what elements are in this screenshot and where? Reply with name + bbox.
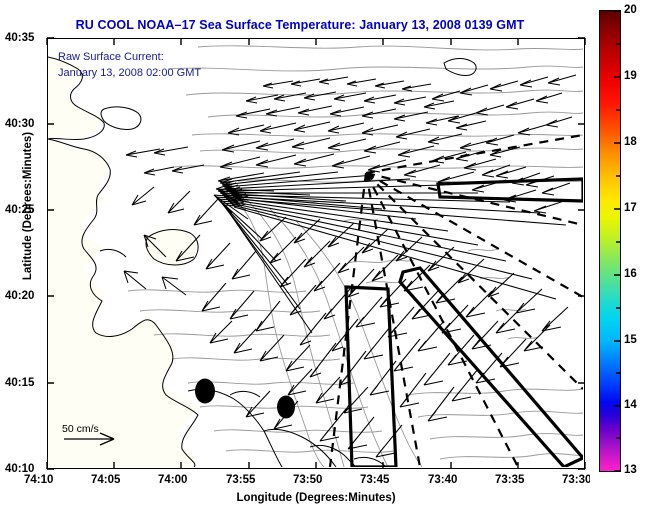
xtick-label: 73:35 [495,474,524,486]
scale-bar-label: 50 cm/s [62,423,99,435]
ytick-label: 40:35 [5,32,34,44]
xtick-label: 74:05 [91,474,120,486]
colorbar-tick-label: 14 [624,399,637,411]
x-axis-label: Longitude (Degrees:Minutes) [47,492,585,504]
map-plot-area[interactable]: Raw Surface Current: January 13, 2008 02… [47,38,585,469]
annotation-line-2: January 13, 2008 02:00 GMT [58,67,201,79]
colorbar-tick-label: 17 [624,202,637,214]
xtick-label: 73:50 [293,474,322,486]
ytick-label: 40:15 [5,377,34,389]
colorbar[interactable] [599,10,621,472]
annotation-line-1: Raw Surface Current: [58,51,164,63]
colorbar-tick-label: 20 [624,4,637,16]
y-axis-label: Latitude (Degrees:Minutes) [22,116,34,296]
colorbar-tick-label: 16 [624,268,637,280]
colorbar-tick-label: 13 [624,464,637,476]
sst-surface-current-figure: RU COOL NOAA–17 Sea Surface Temperature:… [0,0,651,518]
colorbar-tick-label: 19 [624,70,637,82]
xtick-label: 73:45 [360,474,389,486]
colorbar-tick-label: 15 [624,334,637,346]
ytick-label: 40:10 [5,463,34,475]
xtick-label: 73:30 [562,474,590,486]
xtick-label: 73:40 [428,474,457,486]
xtick-label: 74:00 [158,474,187,486]
xtick-label: 73:55 [226,474,255,486]
xtick-label: 74:10 [24,474,53,486]
map-canvas [48,39,583,467]
colorbar-tick-label: 18 [624,136,637,148]
radar-site-marker [195,379,215,404]
page-title: RU COOL NOAA–17 Sea Surface Temperature:… [0,18,600,32]
